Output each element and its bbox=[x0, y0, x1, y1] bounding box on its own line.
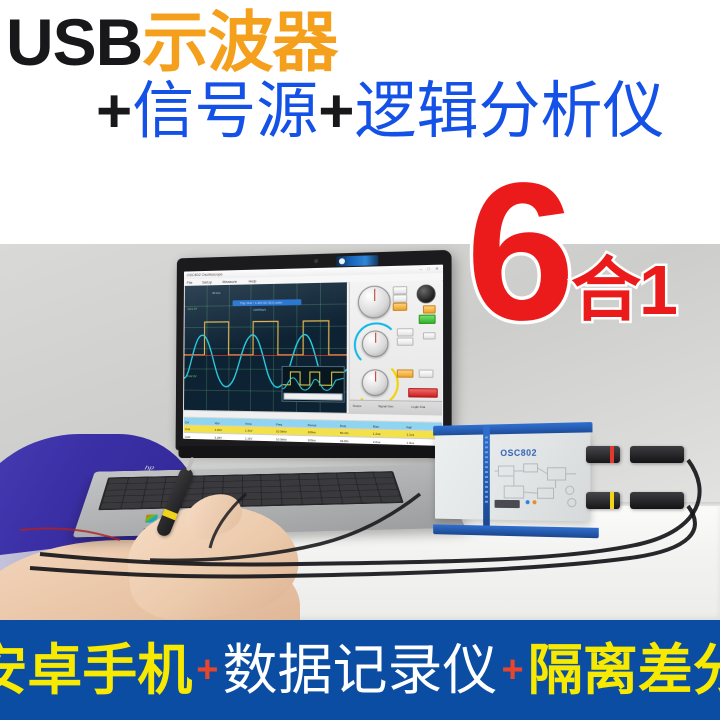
waveform-plot[interactable]: Trig: CH1 ↑ 1.20V DC 50.0 us/div 100MSa/… bbox=[184, 282, 347, 413]
banner-plus-2: + bbox=[498, 641, 528, 699]
tab-scope[interactable]: Scope bbox=[353, 404, 362, 408]
badge-suffix: 合1 bbox=[571, 252, 676, 328]
menu-item-help[interactable]: Help bbox=[249, 278, 257, 283]
run-stop-button[interactable] bbox=[408, 388, 438, 398]
ch2-volts-knob[interactable] bbox=[362, 369, 389, 396]
panel-button-3[interactable] bbox=[393, 303, 408, 311]
tab-signal-gen[interactable]: Signal Gen bbox=[378, 404, 393, 408]
led-status bbox=[533, 500, 537, 504]
timebase-knob[interactable] bbox=[358, 285, 391, 318]
oscilloscope-device: OSC802 bbox=[435, 428, 590, 530]
six-in-one-badge: 6 合1 bbox=[466, 168, 676, 336]
zoom-inset-window[interactable] bbox=[282, 366, 345, 403]
webcam-icon bbox=[314, 259, 318, 263]
device-center-frame bbox=[483, 424, 490, 529]
probe-ring bbox=[162, 509, 178, 521]
panel-run-indicator[interactable] bbox=[419, 315, 436, 324]
laptop-keyboard[interactable] bbox=[98, 471, 404, 510]
laptop-hinge bbox=[178, 446, 455, 459]
ch2-button-1[interactable] bbox=[397, 369, 414, 377]
ch1-button-1[interactable] bbox=[397, 328, 414, 336]
cell-ch: CH2 bbox=[184, 435, 214, 440]
tab-logic-analyzer[interactable]: Logic Ana bbox=[411, 405, 425, 409]
cell-vpp: 3.28V bbox=[214, 436, 244, 441]
device-face: OSC802 bbox=[435, 432, 590, 521]
menu-item-file[interactable]: File bbox=[187, 280, 193, 285]
position-dial[interactable] bbox=[417, 284, 436, 303]
banner-item-2: 数据记录仪 bbox=[223, 641, 498, 699]
banner-item-3: 隔离差分 bbox=[528, 641, 720, 699]
screen-glare bbox=[184, 282, 347, 358]
measurement-table[interactable]: CHVppVrmsFreqPeriodDutyRiseFall CH14.02V… bbox=[184, 410, 442, 445]
software-control-panel[interactable]: Scope Signal Gen Logic Ana bbox=[349, 280, 442, 414]
ch1-button-2[interactable] bbox=[397, 337, 414, 345]
cell-freq: 10.0kHz bbox=[275, 437, 307, 442]
headline-line-2: +信号源+逻辑分析仪 bbox=[96, 78, 664, 146]
panel-button-4[interactable] bbox=[423, 305, 436, 313]
ch1-volts-knob[interactable] bbox=[362, 330, 389, 357]
cell-period: 100us bbox=[307, 438, 339, 443]
bottom-feature-banner: 安卓手机 + 数据记录仪 + 隔离差分 bbox=[0, 620, 720, 720]
probe-body-ch2 bbox=[630, 492, 684, 509]
window-controls[interactable]: – □ ✕ bbox=[420, 266, 441, 272]
led-power bbox=[526, 500, 530, 504]
hp-logo: hp bbox=[144, 464, 165, 473]
headline-item-2: 逻辑分析仪 bbox=[354, 77, 664, 146]
panel-button-1[interactable] bbox=[393, 286, 408, 294]
software-title: OSC802 Oscilloscope bbox=[187, 271, 223, 277]
badge-number: 6 bbox=[466, 168, 575, 336]
banner-plus-1: + bbox=[192, 641, 222, 699]
cell-duty: 49.8% bbox=[339, 439, 372, 444]
device-chip bbox=[495, 500, 520, 508]
device-model-label: OSC802 bbox=[500, 448, 537, 458]
menu-item-setup[interactable]: Setup bbox=[202, 279, 212, 284]
banner-item-1: 安卓手机 bbox=[0, 641, 192, 699]
product-poster: USB示波器 +信号源+逻辑分析仪 6 合1 OSC802 Oscillosco… bbox=[0, 0, 720, 720]
ch2-button-2[interactable] bbox=[419, 370, 434, 378]
bnc-band-ch2 bbox=[610, 492, 614, 509]
laptop-lid: OSC802 Oscilloscope – □ ✕ File Setup Mea… bbox=[176, 250, 452, 459]
headline-usb: USB bbox=[6, 5, 142, 79]
ch1-button-3[interactable] bbox=[423, 332, 436, 339]
panel-button-2[interactable] bbox=[393, 294, 408, 302]
cell-vrms: 1.16V bbox=[244, 437, 275, 442]
bezel-sticker bbox=[336, 255, 378, 266]
bnc-connector-ch1 bbox=[586, 446, 620, 463]
bnc-connector-ch2 bbox=[586, 492, 620, 509]
headline-item-1: 信号源 bbox=[132, 77, 318, 146]
headline-line-1: USB示波器 bbox=[6, 6, 337, 78]
menu-item-measure[interactable]: Measure bbox=[222, 279, 237, 284]
laptop-screen: OSC802 Oscilloscope – □ ✕ File Setup Mea… bbox=[183, 265, 443, 446]
probe-body-ch1 bbox=[630, 446, 684, 463]
bnc-band-ch1 bbox=[610, 446, 614, 463]
headline-product: 示波器 bbox=[142, 5, 337, 79]
cell-rise: 2.0us bbox=[372, 440, 406, 445]
ch2-label: CH2 2V bbox=[187, 374, 197, 378]
headline-plus-2: + bbox=[318, 77, 354, 146]
headline-plus-1: + bbox=[96, 77, 132, 146]
